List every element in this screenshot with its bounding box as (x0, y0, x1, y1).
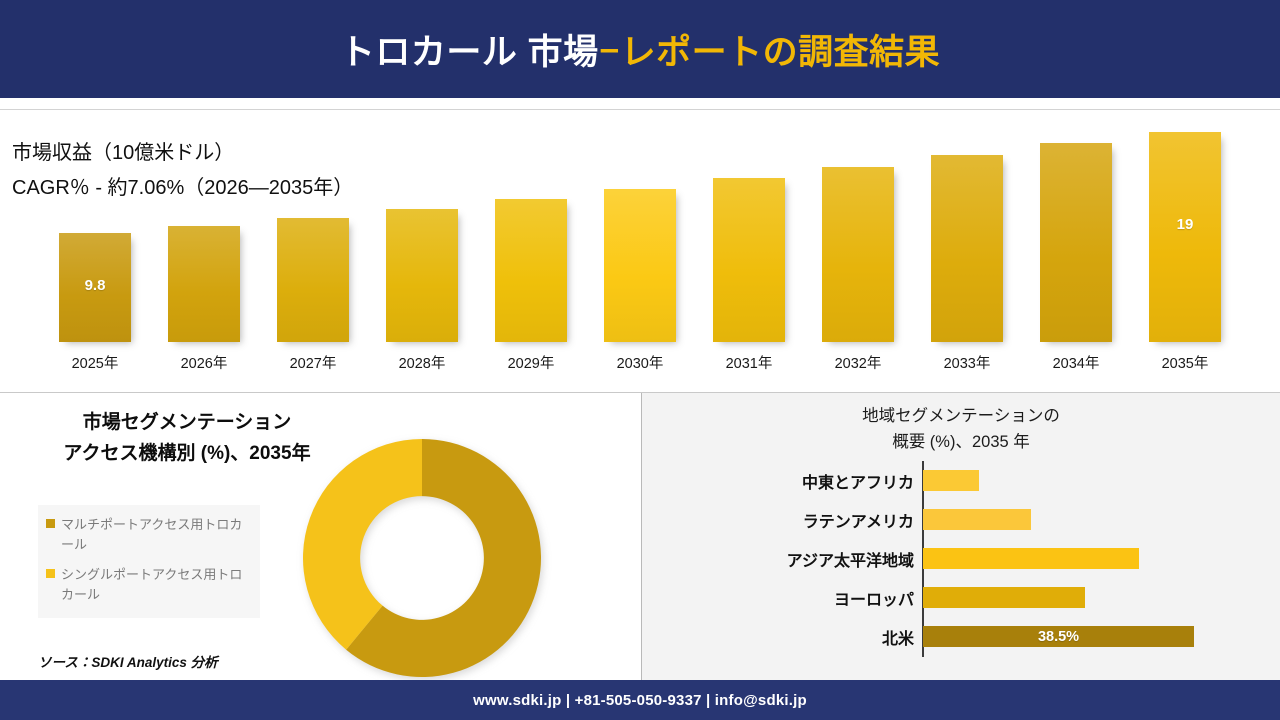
regional-share-bar-chart: 中東とアフリカラテンアメリカアジア太平洋地域ヨーロッパ北米38.5% (642, 461, 1280, 661)
region-bar-value: 38.5% (1038, 629, 1079, 645)
revenue-bar-group: 192035年 (1149, 132, 1221, 342)
revenue-bar-category-label: 2026年 (154, 352, 254, 373)
revenue-bar-group: 2028年 (386, 209, 458, 342)
revenue-bar-group: 2030年 (604, 189, 676, 342)
revenue-bar-category-label: 2034年 (1026, 352, 1126, 373)
region-bar-group: アジア太平洋地域 (642, 539, 1280, 578)
revenue-bar-group: 2034年 (1040, 143, 1112, 342)
region-bar: 38.5% (923, 626, 1194, 647)
region-category-label: アジア太平洋地域 (642, 547, 914, 571)
revenue-bar-category-label: 2027年 (263, 352, 363, 373)
region-bar-group: ヨーロッパ (642, 578, 1280, 617)
page-title-main: トロカール 市場 (340, 24, 599, 75)
revenue-bar-category-label: 2025年 (45, 352, 145, 373)
legend-color-swatch (46, 569, 55, 578)
market-revenue-section: 市場収益（10億米ドル） CAGR％ - 約7.06%（2026―2035年） … (0, 110, 1280, 392)
revenue-bar: 2031年 (713, 178, 785, 342)
page-title-accent: レポートの調査結果 (621, 24, 941, 75)
revenue-bar-group: 2031年 (713, 178, 785, 342)
access-mechanism-donut-chart (302, 438, 542, 678)
region-bar (923, 509, 1031, 530)
revenue-bar: 2030年 (604, 189, 676, 342)
legend-item-label: マルチポートアクセス用トロカール (61, 515, 252, 555)
footer-band: www.sdki.jp | +81-505-050-9337 | info@sd… (0, 680, 1280, 720)
revenue-bar: 2029年 (495, 199, 567, 342)
revenue-bar-group: 2027年 (277, 218, 349, 342)
region-bar-group: 北米38.5% (642, 617, 1280, 656)
legend-color-swatch (46, 519, 55, 528)
region-category-label: 中東とアフリカ (642, 469, 914, 493)
region-category-label: ヨーロッパ (642, 586, 914, 610)
revenue-bar: 9.82025年 (59, 233, 131, 342)
revenue-bar-group: 2033年 (931, 155, 1003, 342)
source-note: ソース：SDKI Analytics 分析 (38, 651, 218, 671)
region-title-line-1: 地域セグメンテーションの (642, 404, 1280, 430)
revenue-bar-value: 9.8 (59, 277, 131, 294)
revenue-bar-category-label: 2032年 (808, 352, 908, 373)
revenue-bar: 2027年 (277, 218, 349, 342)
revenue-bar: 2034年 (1040, 143, 1112, 342)
region-bar (923, 548, 1139, 569)
region-category-label: ラテンアメリカ (642, 508, 914, 532)
market-revenue-bar-chart: 9.82025年2026年2027年2028年2029年2030年2031年20… (40, 120, 1240, 382)
revenue-bar: 2033年 (931, 155, 1003, 342)
revenue-bar: 2032年 (822, 167, 894, 342)
revenue-bar-category-label: 2030年 (590, 352, 690, 373)
legend-item: マルチポートアクセス用トロカール (46, 515, 252, 555)
revenue-bar-category-label: 2028年 (372, 352, 472, 373)
revenue-bar-group: 2026年 (168, 226, 240, 342)
revenue-bar-category-label: 2035年 (1135, 352, 1235, 373)
revenue-bar-category-label: 2031年 (699, 352, 799, 373)
segmentation-legend: マルチポートアクセス用トロカールシングルポートアクセス用トロカール (38, 505, 260, 618)
legend-item-label: シングルポートアクセス用トロカール (61, 565, 252, 605)
region-bar (923, 587, 1085, 608)
region-title: 地域セグメンテーションの 概要 (%)、2035 年 (642, 404, 1280, 455)
region-category-label: 北米 (642, 625, 914, 649)
revenue-bar-group: 2032年 (822, 167, 894, 342)
revenue-bar-category-label: 2029年 (481, 352, 581, 373)
page-title: トロカール 市場 – レポートの調査結果 (0, 0, 1280, 98)
infographic-page: トロカール 市場 – レポートの調査結果 市場収益（10億米ドル） CAGR％ … (0, 0, 1280, 720)
revenue-bar-group: 2029年 (495, 199, 567, 342)
revenue-bar-category-label: 2033年 (917, 352, 1017, 373)
region-bar-group: ラテンアメリカ (642, 500, 1280, 539)
revenue-bar: 192035年 (1149, 132, 1221, 342)
revenue-bar-value: 19 (1149, 216, 1221, 233)
footer-contact-text: www.sdki.jp | +81-505-050-9337 | info@sd… (473, 692, 807, 709)
donut-svg (302, 438, 542, 678)
revenue-bar-group: 9.82025年 (59, 233, 131, 342)
revenue-bar: 2026年 (168, 226, 240, 342)
legend-item: シングルポートアクセス用トロカール (46, 565, 252, 605)
region-bar-group: 中東とアフリカ (642, 461, 1280, 500)
region-bar (923, 470, 979, 491)
market-segmentation-panel: 市場セグメンテーション アクセス機構別 (%)、2035年 マルチポートアクセス… (0, 393, 641, 680)
regional-segmentation-panel: 地域セグメンテーションの 概要 (%)、2035 年 中東とアフリカラテンアメリ… (641, 393, 1280, 680)
region-title-line-2: 概要 (%)、2035 年 (642, 430, 1280, 456)
segmentation-title-line-1: 市場セグメンテーション (22, 407, 352, 438)
revenue-bar: 2028年 (386, 209, 458, 342)
page-title-dash: – (599, 29, 621, 69)
